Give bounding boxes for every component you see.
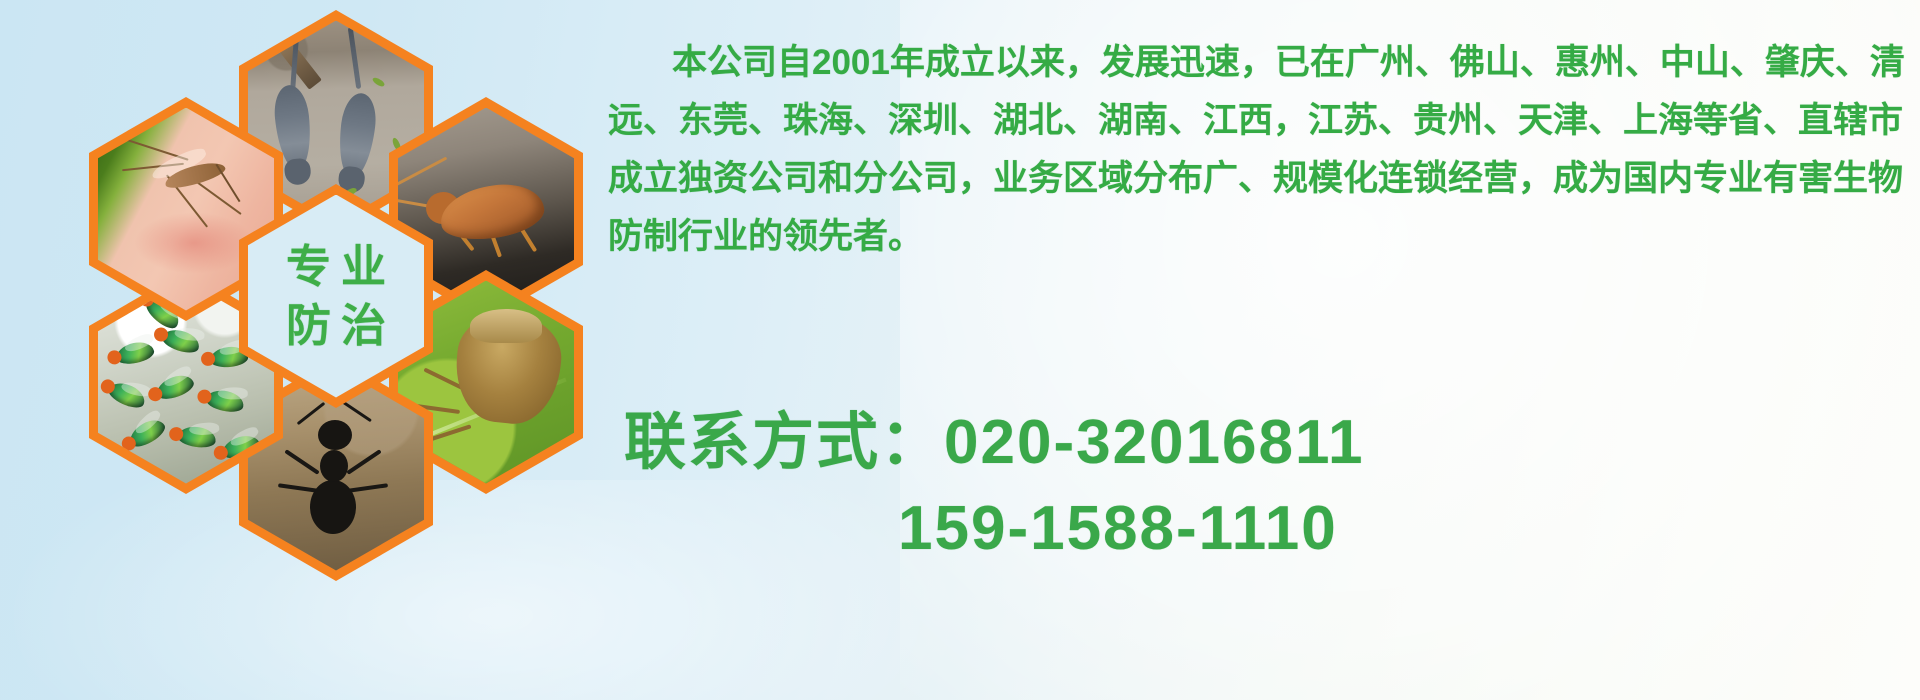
fly-shape	[106, 378, 149, 412]
ant-leg-shape	[284, 449, 319, 475]
fly-shape	[204, 387, 245, 414]
cockroach-body-shape	[437, 178, 548, 246]
hex-inner-center: 专业 防治	[248, 195, 424, 398]
ant-leg-shape	[346, 449, 381, 475]
cockroach-antenna-shape	[398, 156, 447, 186]
ant-antenna-shape	[342, 400, 372, 421]
contact-block: 联系方式：020-32016811 159-1588-1110	[608, 400, 1920, 572]
rat-tail-shape	[348, 26, 362, 88]
content-column: 本公司自2001年成立以来，发展迅速，已在广州、佛山、惠州、中山、肇庆、清远、东…	[608, 0, 1920, 700]
ant-antenna-shape	[297, 401, 326, 424]
contact-phone-mobile[interactable]: 159-1588-1110	[608, 486, 1920, 572]
fly-shape	[126, 414, 169, 450]
contact-phone-landline[interactable]: 联系方式：020-32016811	[608, 400, 1920, 486]
company-description-paragraph: 本公司自2001年成立以来，发展迅速，已在广州、佛山、惠州、中山、肇庆、清远、东…	[608, 34, 1920, 266]
fly-shape	[154, 371, 197, 403]
center-slogan-line-1: 专业	[276, 244, 396, 289]
wood-plank-shape	[250, 21, 322, 90]
ant-leg-shape	[348, 483, 388, 493]
bug-pronotum-shape	[470, 309, 542, 343]
mosquito-proboscis-shape	[215, 163, 240, 201]
pest-control-banner: 专业 防治 本公司自2001年成立以来，发展迅速，已在广州、佛山、惠州、中山、肇…	[0, 0, 1920, 700]
fly-shape	[177, 424, 217, 449]
ant-thorax-shape	[320, 450, 348, 482]
center-slogan-line-2: 防治	[276, 303, 396, 348]
honeycomb-collage: 专业 防治	[86, 4, 586, 564]
fly-shape	[160, 325, 202, 356]
fly-shape	[114, 339, 155, 366]
leaf-debris-shape	[371, 75, 385, 87]
ant-leg-shape	[278, 483, 318, 493]
center-slogan: 专业 防治	[248, 195, 424, 398]
rat-body-shape	[335, 91, 379, 179]
ant-head-shape	[318, 420, 352, 450]
ant-abdomen-shape	[310, 480, 356, 534]
skin-irritation-shape	[134, 212, 254, 274]
